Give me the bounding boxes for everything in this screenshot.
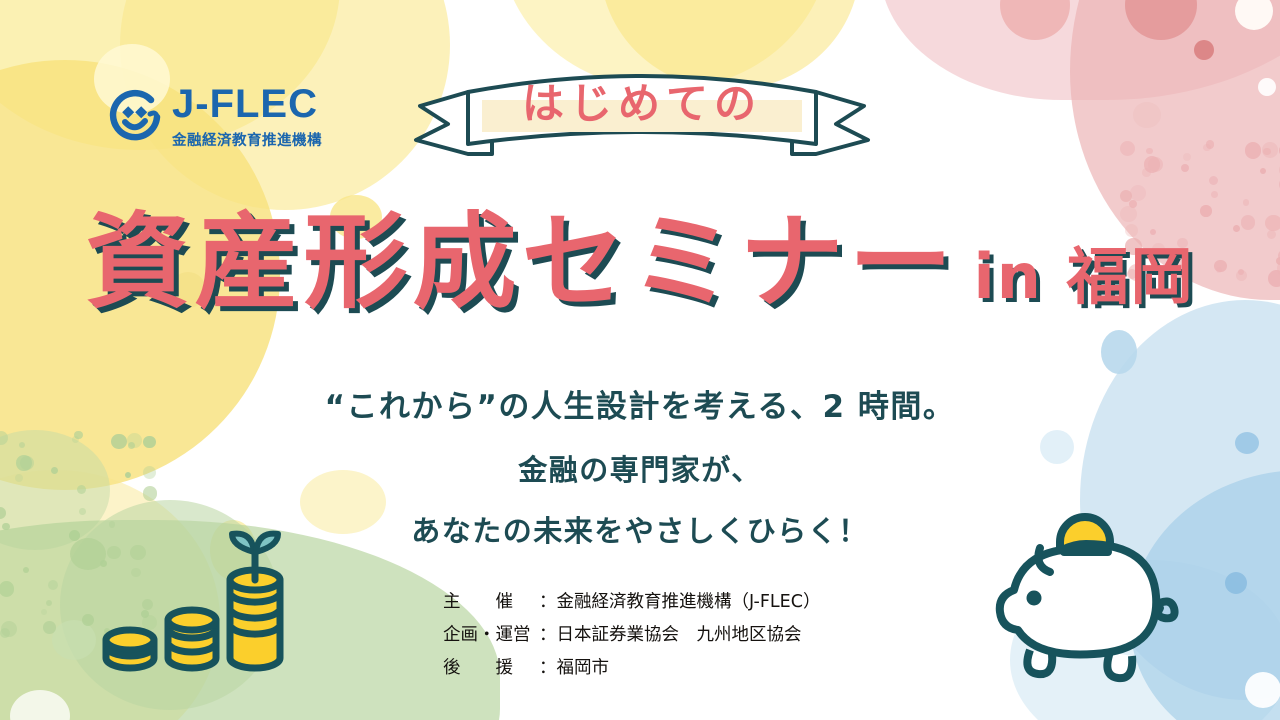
- white-dot: [1235, 0, 1273, 30]
- credit-value: ：福岡市: [539, 652, 609, 685]
- credit-row: 主 催 ：金融経済教育推進機構（J-FLEC）: [443, 586, 820, 619]
- credit-label: 企画・運営: [443, 619, 539, 652]
- white-dot: [1258, 78, 1276, 96]
- pink-dot: [1125, 0, 1197, 40]
- credit-label: 後 援: [443, 652, 539, 685]
- green-dot: [10, 690, 70, 720]
- seminar-poster: J-FLEC 金融経済教育推進機構 はじめての 資産形成セミナーin 福岡 “こ…: [0, 0, 1280, 720]
- white-dot: [1245, 672, 1280, 708]
- pink-dot: [1133, 102, 1161, 128]
- subtitle-line-2: 金融の専門家が、: [0, 447, 1280, 489]
- credit-row: 企画・運営 ：日本証券業協会 九州地区協会: [443, 619, 820, 652]
- jflec-wordmark: J-FLEC: [172, 84, 322, 124]
- credits-block: 主 催 ：金融経済教育推進機構（J-FLEC） 企画・運営 ：日本証券業協会 九…: [443, 586, 820, 685]
- title-main-text: 資産形成セミナー: [86, 201, 958, 323]
- pink-blob: [880, 0, 1280, 100]
- jflec-smiley-icon: [104, 86, 166, 148]
- pink-dot: [1194, 40, 1214, 60]
- pink-dot: [1000, 0, 1070, 40]
- blue-dot: [1225, 572, 1247, 594]
- subtitle-line-1: “これから”の人生設計を考える、2 時間。: [0, 381, 1280, 426]
- credit-value: ：日本証券業協会 九州地区協会: [539, 619, 802, 652]
- title-location-text: in 福岡: [974, 240, 1195, 313]
- ribbon-banner: はじめての: [406, 54, 878, 166]
- jflec-org-name: 金融経済教育推進機構: [172, 129, 322, 150]
- credit-row: 後 援 ：福岡市: [443, 652, 820, 685]
- page-title: 資産形成セミナーin 福岡: [0, 206, 1280, 318]
- jflec-logo: J-FLEC 金融経済教育推進機構: [104, 84, 322, 150]
- ribbon-label: はじめての: [406, 54, 878, 146]
- piggy-bank-icon: [968, 500, 1218, 700]
- credit-value: ：金融経済教育推進機構（J-FLEC）: [539, 586, 820, 619]
- blue-dot: [1101, 330, 1137, 374]
- credit-label: 主 催: [443, 586, 539, 619]
- growing-coin-stacks-icon: [88, 522, 288, 682]
